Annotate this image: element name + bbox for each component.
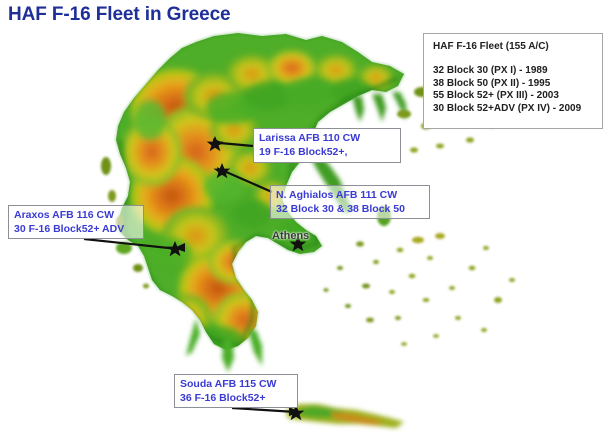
callout-souda-line1: Souda AFB 115 CW <box>180 378 292 392</box>
callout-araxos-afb: Araxos AFB 116 CW 30 F-16 Block52+ ADV <box>8 205 144 239</box>
slide-canvas: HAF F-16 Fleet in Greece Athens HAF F-16… <box>0 0 610 445</box>
callout-araxos-line2: 30 F-16 Block52+ ADV <box>14 223 138 237</box>
legend-row: 38 Block 50 (PX II) - 1995 <box>433 78 594 91</box>
map-label-athens: Athens <box>272 230 309 242</box>
callout-aghialos-line1: N. Aghialos AFB 111 CW <box>276 189 424 203</box>
callout-aghialos-afb: N. Aghialos AFB 111 CW 32 Block 30 & 38 … <box>270 185 430 219</box>
callout-aghialos-line2: 32 Block 30 & 38 Block 50 <box>276 203 424 217</box>
legend-row: 30 Block 52+ADV (PX IV) - 2009 <box>433 103 594 116</box>
fleet-legend-box: HAF F-16 Fleet (155 A/C) 32 Block 30 (PX… <box>423 33 603 129</box>
legend-row: 32 Block 30 (PX I) - 1989 <box>433 65 594 78</box>
legend-row: 55 Block 52+ (PX III) - 2003 <box>433 90 594 103</box>
legend-row-list: 32 Block 30 (PX I) - 1989 38 Block 50 (P… <box>433 65 594 115</box>
legend-heading: HAF F-16 Fleet (155 A/C) <box>433 41 594 53</box>
callout-araxos-line1: Araxos AFB 116 CW <box>14 209 138 223</box>
callout-souda-line2: 36 F-16 Block52+ <box>180 392 292 406</box>
callout-larissa-afb: Larissa AFB 110 CW 19 F-16 Block52+, <box>253 128 401 163</box>
callout-larissa-line2: 19 F-16 Block52+, <box>259 146 395 160</box>
callout-souda-afb: Souda AFB 115 CW 36 F-16 Block52+ <box>174 374 298 408</box>
callout-larissa-line1: Larissa AFB 110 CW <box>259 132 395 146</box>
page-title: HAF F-16 Fleet in Greece <box>8 4 231 26</box>
